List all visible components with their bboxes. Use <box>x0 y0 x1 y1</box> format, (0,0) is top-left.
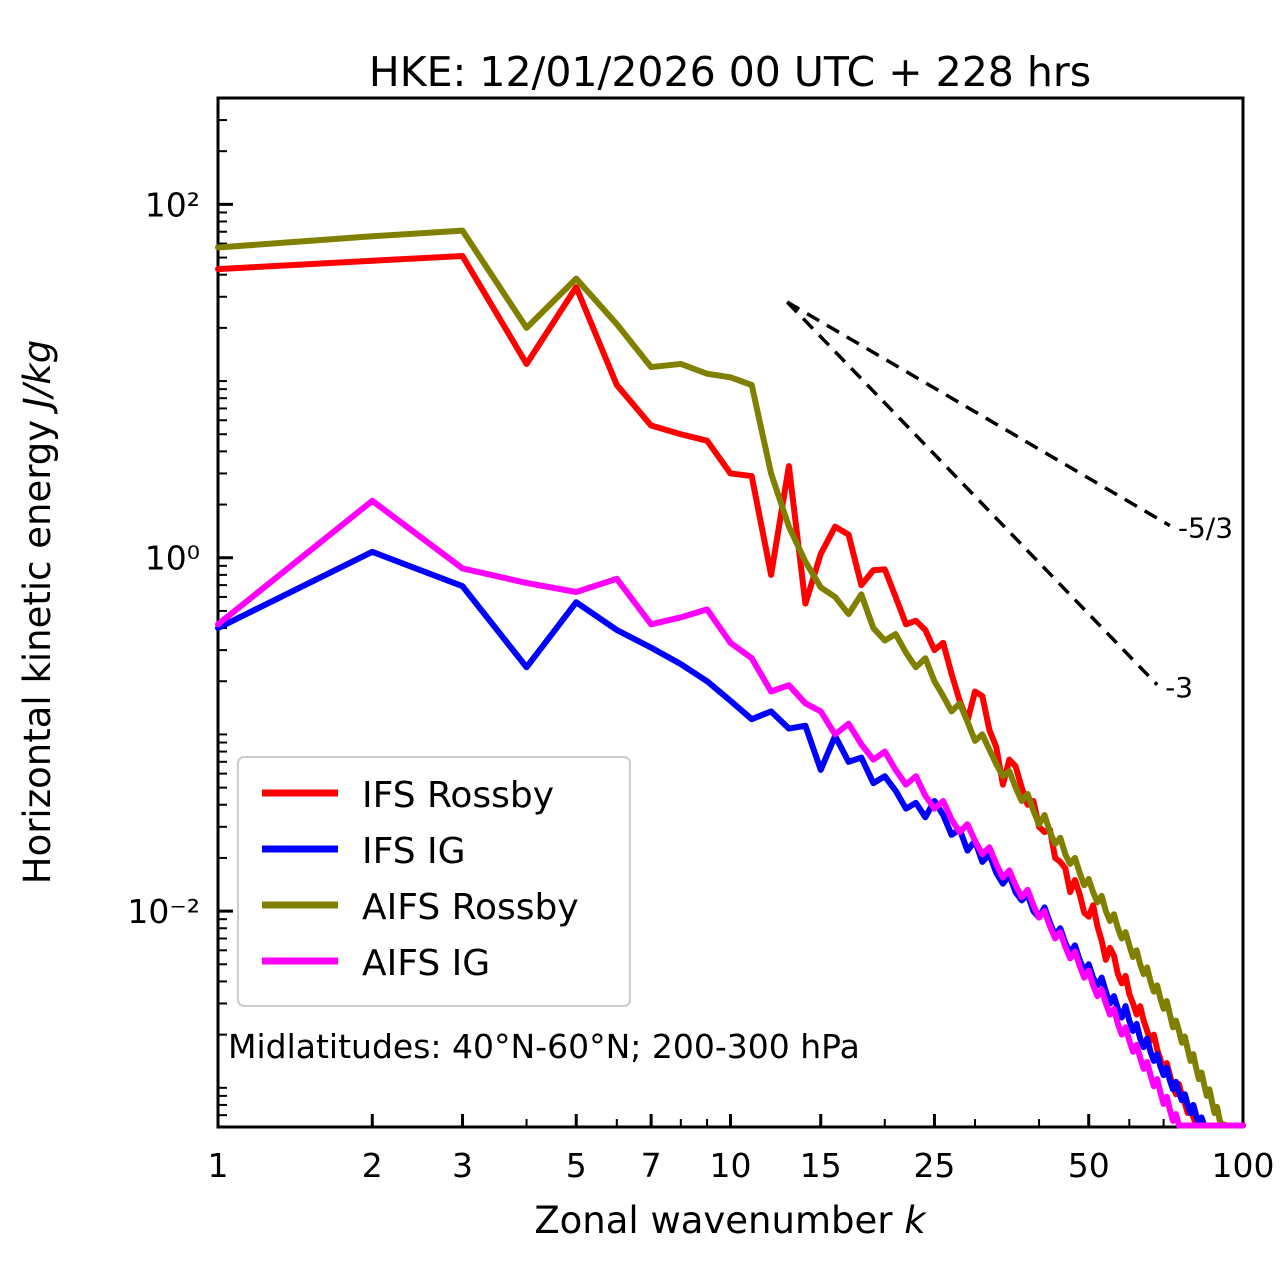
region-annotation: Midlatitudes: 40°N-60°N; 200-300 hPa <box>228 1027 860 1066</box>
x-tick-label: 100 <box>1212 1146 1275 1185</box>
x-axis-label: Zonal wavenumber k <box>534 1199 927 1242</box>
legend-label-aifs-ig[interactable]: AIFS IG <box>362 943 490 984</box>
y-axis-label: Horizontal kinetic energy J/kg <box>16 340 59 884</box>
legend-label-ifs-ig[interactable]: IFS IG <box>362 831 466 872</box>
y-tick-label: 10² <box>145 185 200 224</box>
x-tick-label: 15 <box>800 1146 842 1185</box>
x-tick-label: 2 <box>362 1146 383 1185</box>
y-tick-label: 10⁻² <box>127 892 200 931</box>
x-tick-label: 10 <box>710 1146 752 1185</box>
figure-canvas: HKE: 12/01/2026 00 UTC + 228 hrs 1235710… <box>0 0 1280 1288</box>
reference-slope-label: -3 <box>1165 671 1193 704</box>
page-title: HKE: 12/01/2026 00 UTC + 228 hrs <box>369 48 1091 96</box>
x-tick-label: 5 <box>566 1146 587 1185</box>
x-tick-label: 3 <box>452 1146 473 1185</box>
x-tick-label: 50 <box>1068 1146 1110 1185</box>
legend[interactable]: IFS RossbyIFS IGAIFS RossbyAIFS IG <box>238 757 630 1006</box>
y-tick-label: 10⁰ <box>145 539 200 578</box>
spectrum-plot: HKE: 12/01/2026 00 UTC + 228 hrs 1235710… <box>0 0 1280 1288</box>
legend-label-ifs-rossby[interactable]: IFS Rossby <box>362 775 554 816</box>
x-tick-label: 25 <box>913 1146 955 1185</box>
reference-slope-label: -5/3 <box>1178 512 1233 545</box>
legend-label-aifs-rossby[interactable]: AIFS Rossby <box>362 887 579 928</box>
x-tick-label: 7 <box>641 1146 662 1185</box>
x-axis-minor-ticks <box>218 1119 1243 1127</box>
x-tick-label: 1 <box>208 1146 229 1185</box>
